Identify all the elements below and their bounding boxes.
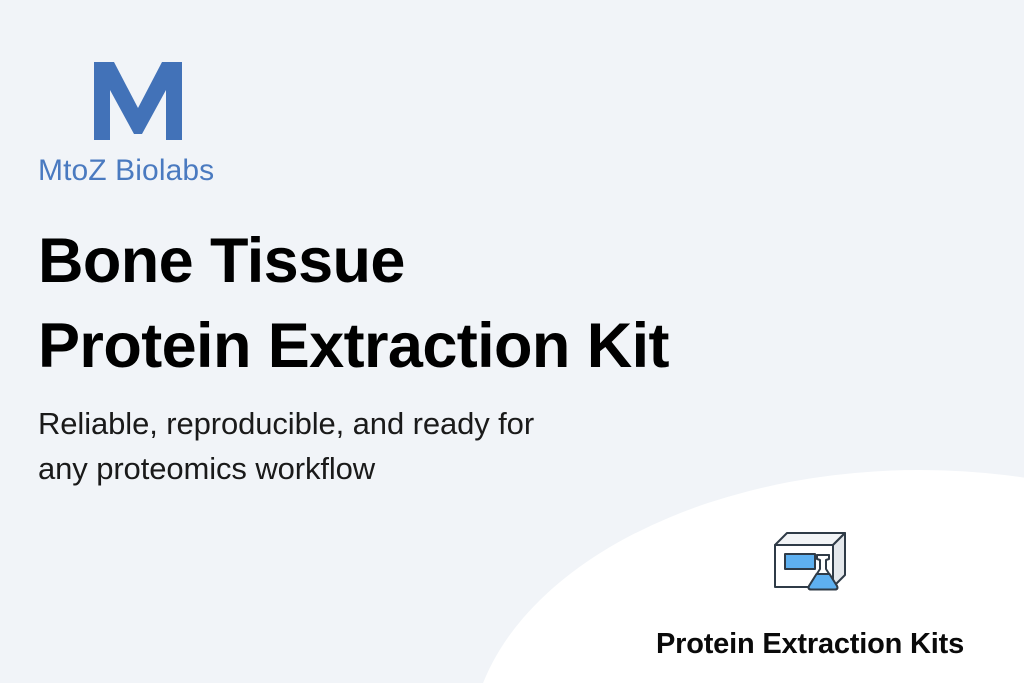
mtoz-biolabs-logo-icon [88,58,188,144]
page-title-line-2: Protein Extraction Kit [38,304,738,389]
promo-banner: MtoZ Biolabs Bone Tissue Protein Extract… [0,0,1024,683]
category-label: Protein Extraction Kits [600,627,1020,661]
page-title: Bone Tissue Protein Extraction Kit [38,219,738,389]
page-title-line-1: Bone Tissue [38,219,738,304]
page-subtitle: Reliable, reproducible, and ready for an… [38,401,678,491]
brand-lockup: MtoZ Biolabs [38,58,398,188]
page-subtitle-line-1: Reliable, reproducible, and ready for [38,401,678,446]
brand-name: MtoZ Biolabs [38,154,398,188]
kit-box-flask-icon [771,529,849,591]
page-subtitle-line-2: any proteomics workflow [38,446,678,491]
category-badge: Protein Extraction Kits [600,529,1020,661]
